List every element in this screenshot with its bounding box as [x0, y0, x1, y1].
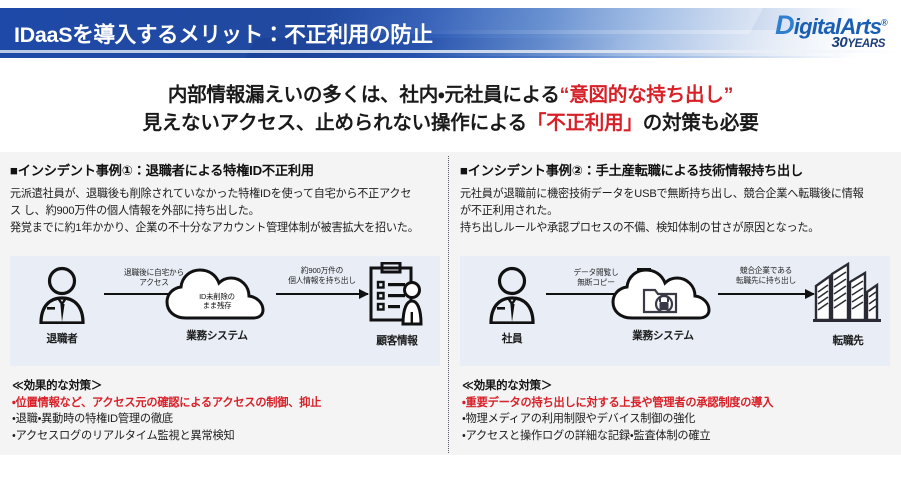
lead-line-1-highlight: “意図的な持ち出し” — [560, 84, 734, 106]
incident-2-body-line-2: が不正利用された。 — [460, 203, 890, 220]
registered-mark-icon: ® — [881, 18, 887, 28]
diagram-2-arrow-2-line — [718, 293, 814, 295]
lead-message: 内部情報漏えいの多くは、社内・元社員による“意図的な持ち出し” 見えないアクセス… — [0, 82, 901, 137]
incident-2-body: 元社員が退職前に機密技術データをUSBで無断持ち出し、競合企業へ転職後に情報 が… — [460, 186, 890, 237]
logo-anniversary-word: YEARS — [847, 38, 885, 50]
diagram-2-node-new-company-label: 転職先 — [810, 333, 886, 348]
incident-1-body: 元派遣社員が、退職後も削除されていなかった特権IDを使って自宅から不正アクセ ス… — [10, 186, 440, 237]
incident-2-measure-item-3: ・アクセスと操作ログの詳細な記録・監査体制の確立 — [462, 428, 892, 445]
diagram-2-node-system: 業務システム — [608, 266, 718, 343]
diagram-1-arrow-2-caption-line-2: 個人情報を持ち出し — [268, 276, 376, 286]
diagram-1-arrow-2-caption-line-1: 約900万件の — [268, 266, 376, 276]
incident-1-diagram: 退職者 退職後に自宅から アクセス ID未削除の まま残存 業務システム 約90… — [10, 256, 440, 366]
incident-panel-1: ■インシデント事例①：退職者による特権ID不正利用 元派遣社員が、退職後も削除さ… — [10, 160, 440, 237]
lead-line-1-text: 内部情報漏えいの多くは、社内・元社員による — [168, 84, 560, 106]
digital-arts-logo: DigitalArts® 30YEARS — [722, 8, 887, 54]
diagram-2-node-system-label: 業務システム — [608, 328, 718, 343]
incident-2-measures: ≪効果的な対策＞ ・重要データの持ち出しに対する上長や管理者の承認制度の導入 ・… — [462, 378, 892, 445]
logo-anniversary-number: 30 — [831, 34, 847, 51]
diagram-1-cloud-text-line-1: ID未削除の — [162, 292, 272, 301]
incident-2-measure-item-2: ・物理メディアの利用制限やデバイス制御の強化 — [462, 411, 892, 428]
incident-1-body-line-1: 元派遣社員が、退職後も削除されていなかった特権IDを使って自宅から不正アクセ — [10, 186, 440, 203]
incident-1-body-line-3: 発覚までに約1年かかり、企業の不十分なアカウント管理体制が被害拡大を招いた。 — [10, 220, 440, 237]
incident-1-measure-item-3: ・アクセスログのリアルタイム監視と異常検知 — [12, 428, 442, 445]
incident-1-body-line-2: ス し、約900万件の個人情報を外部に持ち出した。 — [10, 203, 440, 220]
diagram-2-arrow-2-caption-line-2: 転職先に持ち出し — [710, 276, 822, 286]
lead-line-2: 見えないアクセス、止められない操作による「不正利用」の対策も必要 — [0, 110, 901, 138]
incident-2-measure-item-1: ・重要データの持ち出しに対する上長や管理者の承認制度の導入 — [462, 395, 892, 412]
logo-anniversary: 30YEARS — [831, 34, 885, 51]
diagram-1-cloud-text-line-2: まま残存 — [162, 301, 272, 310]
incident-2-measures-title: ≪効果的な対策＞ — [462, 378, 892, 395]
diagram-2-node-employee: 社員 — [472, 266, 552, 346]
diagram-1-node-customer-data-label: 顧客情報 — [362, 333, 432, 348]
diagram-1-arrow-2-line — [276, 293, 368, 295]
slide-root: IDaaSを導入するメリット：不正利用の防止 DigitalArts® 30YE… — [0, 0, 901, 478]
diagram-1-node-retiree: 退職者 — [22, 266, 102, 346]
lead-line-1: 内部情報漏えいの多くは、社内・元社員による“意図的な持ち出し” — [0, 82, 901, 110]
diagram-1-node-system-label: 業務システム — [162, 328, 272, 343]
incident-2-diagram: 社員 データ閲覧し 無断コピー — [460, 256, 890, 366]
incident-2-body-line-1: 元社員が退職前に機密技術データをUSBで無断持ち出し、競合企業へ転職後に情報 — [460, 186, 890, 203]
incident-2-heading: ■インシデント事例②：手土産転職による技術情報持ち出し — [460, 160, 890, 179]
diagram-1-node-customer-data: 顧客情報 — [362, 262, 432, 348]
diagram-1-arrow-2: 約900万件の 個人情報を持ち出し — [268, 266, 376, 295]
lead-line-2-highlight: 「不正利用」 — [527, 112, 643, 134]
diagram-1-node-system: ID未削除の まま残存 業務システム — [162, 266, 272, 343]
businessman-icon — [485, 266, 539, 324]
clipboard-person-icon — [367, 262, 427, 326]
incident-1-measures: ≪効果的な対策＞ ・位置情報など、アクセス元の確認によるアクセスの制御、抑止 ・… — [12, 378, 442, 445]
diagram-2-arrow-2-caption-line-1: 競合企業である — [710, 266, 822, 276]
lead-line-2-tail: の対策も必要 — [643, 112, 759, 134]
lead-line-2-text: 見えないアクセス、止められない操作による — [142, 112, 526, 134]
incident-panel-2: ■インシデント事例②：手土産転職による技術情報持ち出し 元社員が退職前に機密技術… — [460, 160, 890, 237]
diagram-2-arrow-2: 競合企業である 転職先に持ち出し — [710, 266, 822, 295]
office-buildings-icon — [813, 262, 883, 326]
incident-1-measures-title: ≪効果的な対策＞ — [12, 378, 442, 395]
incident-1-heading: ■インシデント事例①：退職者による特権ID不正利用 — [10, 160, 440, 179]
diagram-1-cloud-text: ID未削除の まま残存 — [162, 292, 272, 311]
page-title: IDaaSを導入するメリット：不正利用の防止 — [14, 18, 433, 49]
incident-1-measure-item-1: ・位置情報など、アクセス元の確認によるアクセスの制御、抑止 — [12, 395, 442, 412]
logo-initial-d: D — [775, 10, 794, 40]
incident-1-measure-item-2: ・退職・異動時の特権ID管理の徹底 — [12, 411, 442, 428]
panel-divider — [448, 156, 449, 453]
diagram-2-node-new-company: 転職先 — [810, 262, 886, 348]
incident-2-body-line-3: 持ち出しルールや承認プロセスの不備、検知体制の甘さが原因となった。 — [460, 220, 890, 237]
businessman-icon — [35, 266, 89, 324]
diagram-1-node-retiree-label: 退職者 — [22, 331, 102, 346]
cloud-icon — [608, 266, 718, 326]
diagram-2-node-employee-label: 社員 — [472, 331, 552, 346]
